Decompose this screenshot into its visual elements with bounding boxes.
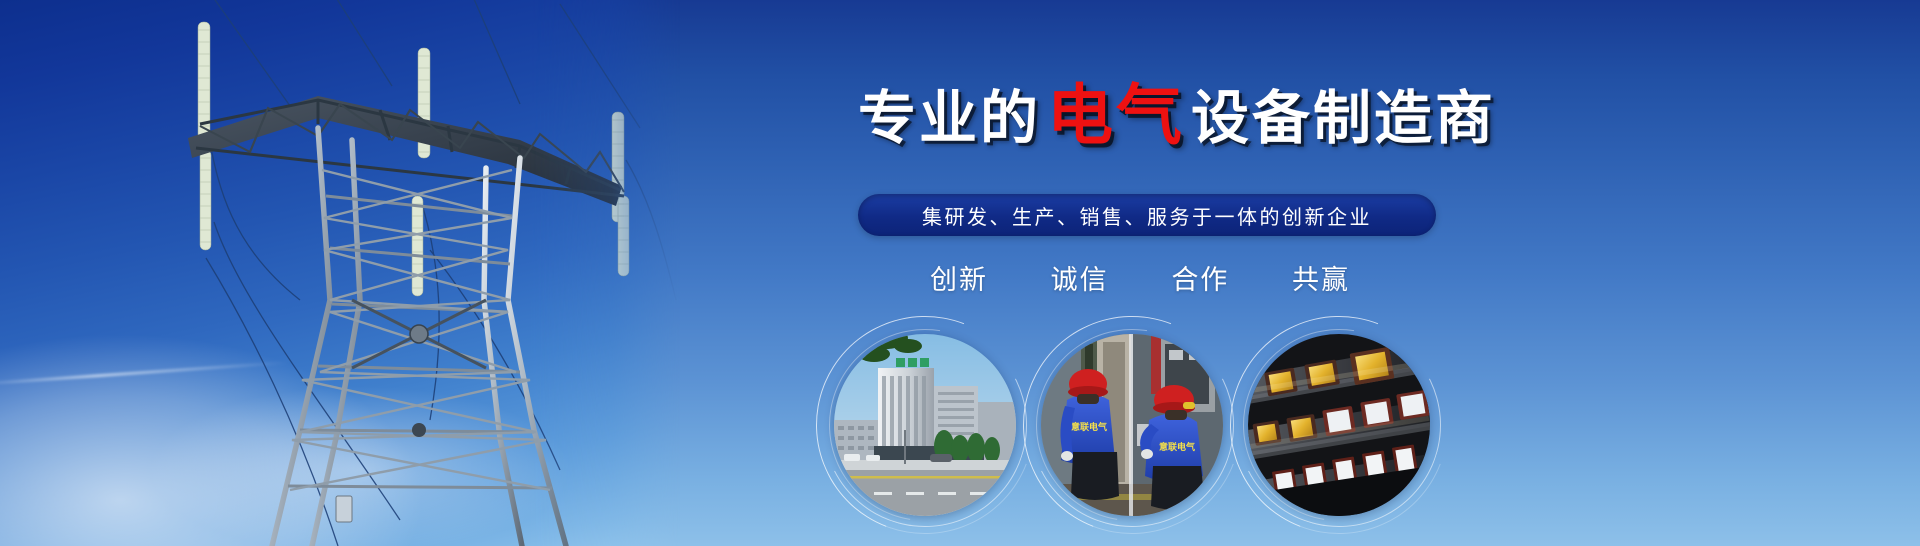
technicians-image: 意联电气 意联电气 <box>1041 334 1223 516</box>
office-building-image <box>834 334 1016 516</box>
keyword-row: 创新 诚信 合作 共赢 <box>930 258 1350 297</box>
circle-photo-office-building[interactable]: 企业办公大楼与街道 <box>818 318 1032 532</box>
technicians-illustration: 意联电气 意联电气 <box>1041 334 1223 516</box>
svg-text:意联电气: 意联电气 <box>1159 441 1195 452</box>
circle-3-alt: 荣誉证书与奖牌陈列墙 <box>1232 318 1233 319</box>
subtitle-pill: 集研发、生产、销售、服务于一体的创新企业 <box>858 194 1436 236</box>
circle-photo-technicians[interactable]: 身穿蓝色工装戴红色安全帽的技术人员检修配电柜 <box>1025 318 1239 532</box>
rooftop-sign <box>896 358 929 367</box>
certificate-wall-illustration <box>1248 334 1430 516</box>
keyword-winwin: 共赢 <box>1292 258 1350 297</box>
headline-segment-accent: 电气 <box>1047 82 1185 148</box>
page-title: 专业的 电气 设备制造商 <box>858 82 1496 148</box>
keyword-innovation: 创新 <box>930 258 988 297</box>
certificate-wall-image <box>1248 334 1430 516</box>
circle-1-alt: 企业办公大楼与街道 <box>818 318 819 319</box>
keyword-cooperation: 合作 <box>1171 258 1229 297</box>
hero-banner: high-voltage transmission tower against … <box>0 0 1920 546</box>
circle-photo-row: 企业办公大楼与街道 <box>818 318 1438 532</box>
headline-segment-3: 设备制造商 <box>1191 90 1496 148</box>
headline-segment-1: 专业的 <box>858 90 1041 148</box>
subtitle-pill-label: 集研发、生产、销售、服务于一体的创新企业 <box>922 201 1372 230</box>
transmission-tower-photo: high-voltage transmission tower against … <box>0 0 680 546</box>
keyword-integrity: 诚信 <box>1051 258 1109 297</box>
office-building-illustration <box>834 334 1016 516</box>
tower-illustration <box>0 0 680 546</box>
circle-photo-certificate-wall[interactable]: 荣誉证书与奖牌陈列墙 <box>1232 318 1446 532</box>
svg-text:意联电气: 意联电气 <box>1071 421 1107 432</box>
circle-2-alt: 身穿蓝色工装戴红色安全帽的技术人员检修配电柜 <box>1025 318 1026 319</box>
tower-crossarm <box>188 96 624 206</box>
